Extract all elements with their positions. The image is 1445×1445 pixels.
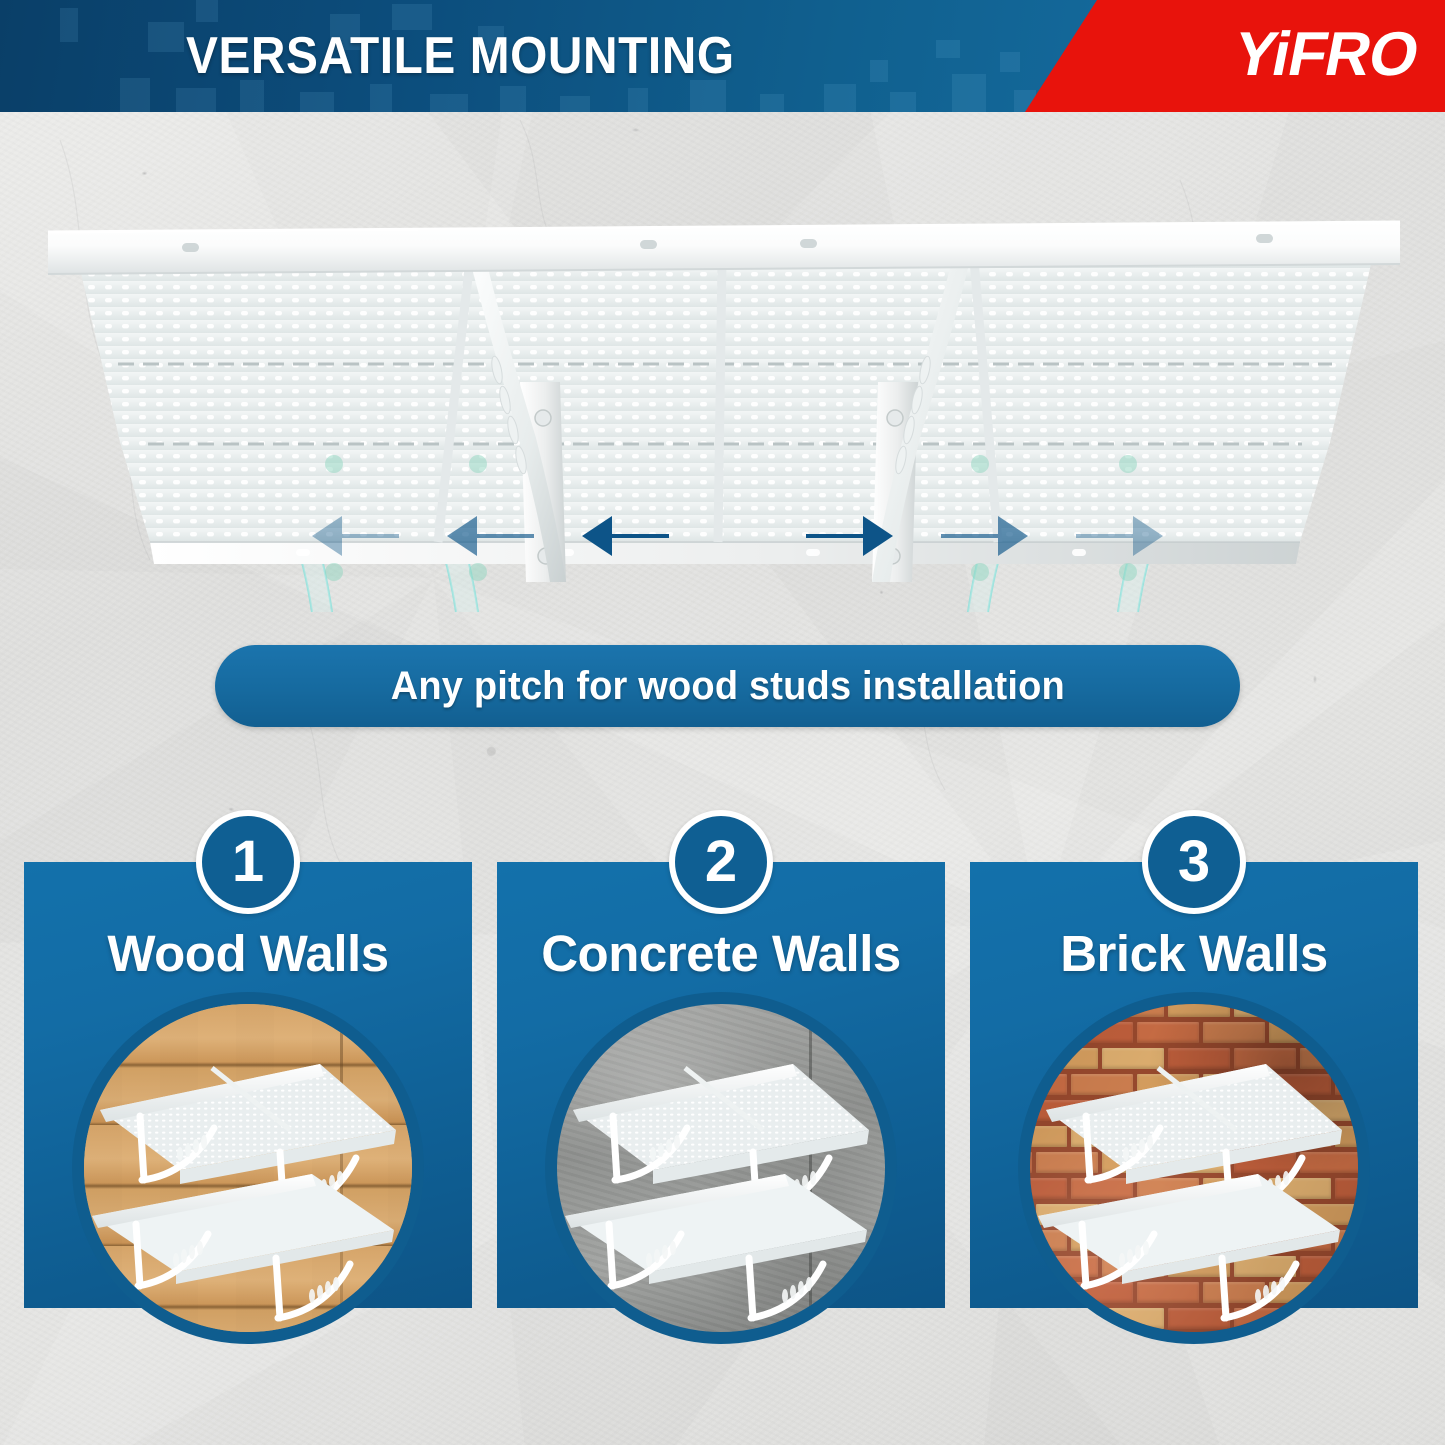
card-badge-number: 2: [705, 833, 737, 891]
card-photo-wood: [84, 1004, 412, 1332]
product-infographic: VERSATILE MOUNTING YiFRO: [0, 0, 1445, 1445]
card-title-brick: Brick Walls: [970, 924, 1418, 983]
lower-shelf: [92, 1174, 394, 1318]
card-badge-number: 3: [1178, 833, 1210, 891]
shelf-pair-wood: [84, 1004, 412, 1332]
shelf-top-rail: [48, 222, 1400, 274]
shelf-pair-concrete: [557, 1004, 885, 1332]
shelf-pair-brick: [1030, 1004, 1358, 1332]
shelf-render-svg: [0, 112, 1445, 632]
page-title: VERSATILE MOUNTING: [186, 26, 735, 86]
card-badge-number: 1: [232, 833, 264, 891]
card-title-wood: Wood Walls: [24, 924, 472, 983]
wall-type-cards: 1 Wood Walls: [0, 862, 1445, 1445]
lower-shelf: [1038, 1174, 1340, 1318]
shelf-deck: [78, 260, 1372, 564]
lower-shelf: [565, 1174, 867, 1318]
wall-type-card-wood[interactable]: 1 Wood Walls: [24, 862, 472, 1445]
card-photo-concrete: [557, 1004, 885, 1332]
wall-type-card-brick[interactable]: 3 Brick Walls: [970, 862, 1418, 1445]
pitch-banner: Any pitch for wood studs installation: [215, 645, 1240, 727]
wall-type-card-concrete[interactable]: 2 Concrete Walls: [497, 862, 945, 1445]
hero-illustration: [0, 112, 1445, 632]
pitch-banner-label: Any pitch for wood studs installation: [390, 664, 1064, 709]
card-badge-2: 2: [669, 810, 773, 914]
card-badge-3: 3: [1142, 810, 1246, 914]
brand-logo: YiFRO: [1228, 19, 1424, 90]
card-photo-brick: [1030, 1004, 1358, 1332]
card-badge-1: 1: [196, 810, 300, 914]
header-banner: VERSATILE MOUNTING YiFRO: [0, 0, 1445, 112]
card-title-concrete: Concrete Walls: [497, 924, 945, 983]
